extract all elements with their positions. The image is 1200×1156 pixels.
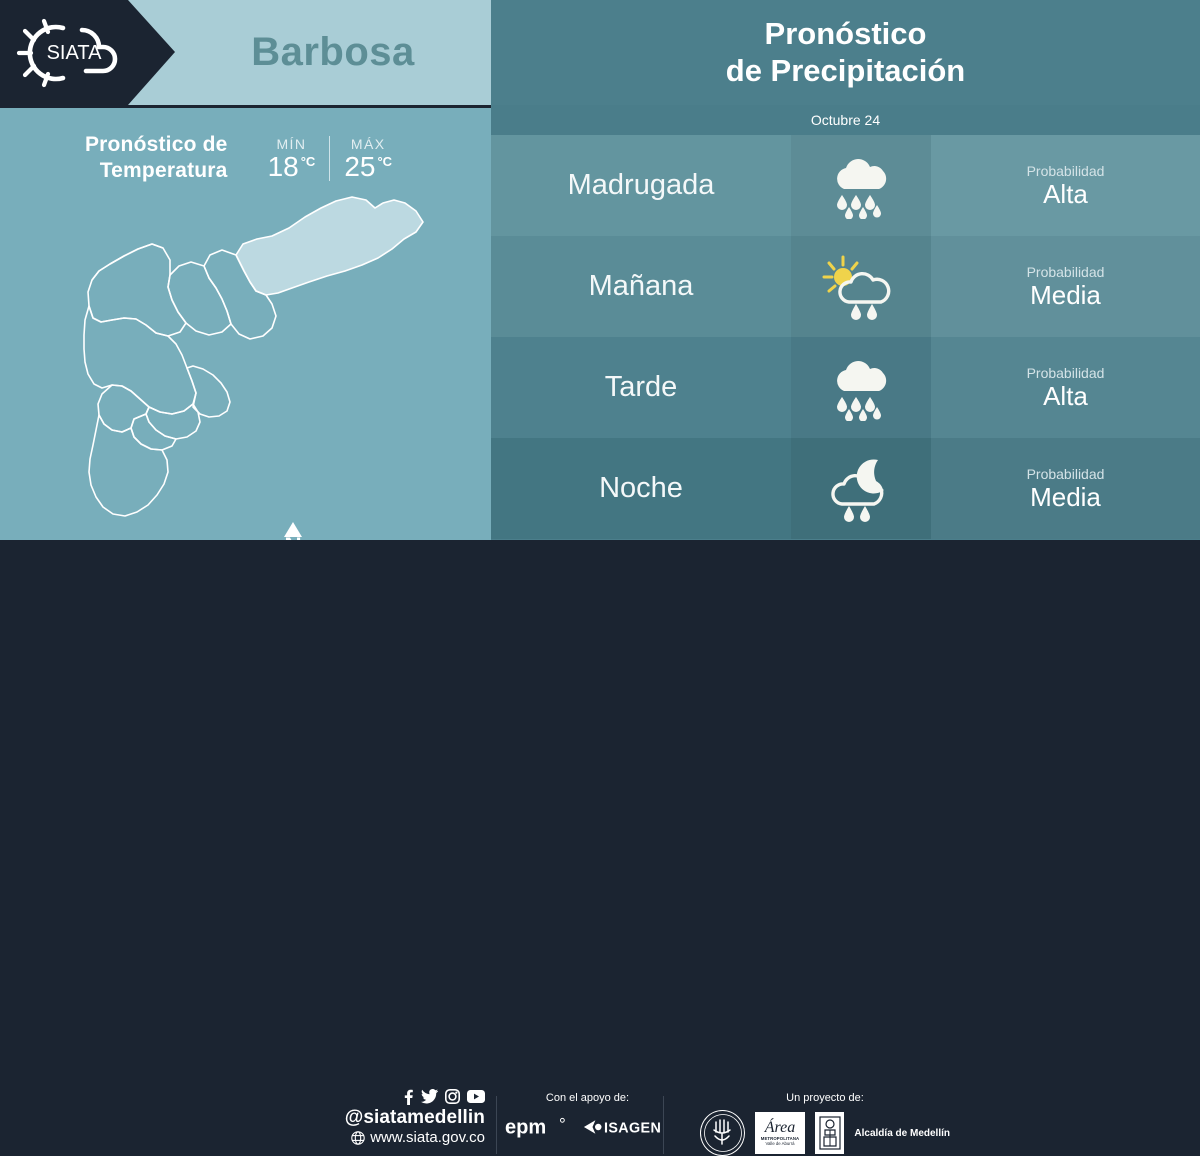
temperature-block: Pronóstico de Temperatura MÍN 18 °C MÁX bbox=[0, 122, 491, 194]
temperature-title-line2: Temperatura bbox=[85, 158, 228, 184]
period-label: Tarde bbox=[491, 337, 791, 438]
area-line2: Valle de Aburrá bbox=[765, 1141, 794, 1146]
universidad-medellin-seal bbox=[700, 1110, 745, 1156]
forecast-row: Noche Probabilidad Media bbox=[491, 438, 1200, 539]
probability-label: Probabilidad bbox=[1027, 163, 1105, 179]
twitter-icon[interactable] bbox=[421, 1089, 438, 1104]
weather-icon-cell bbox=[791, 236, 931, 337]
social-icons bbox=[310, 1088, 485, 1105]
probability-value: Media bbox=[1030, 281, 1101, 310]
website-url: www.siata.gov.co bbox=[370, 1129, 485, 1147]
forecast-rows: Madrugada bbox=[491, 135, 1200, 540]
epm-logo: epm bbox=[505, 1114, 570, 1140]
probability-value: Alta bbox=[1043, 180, 1088, 209]
temperature-values: MÍN 18 °C MÁX 25 °C bbox=[254, 136, 407, 181]
alcaldia-seal bbox=[815, 1112, 844, 1154]
forecast-date: Octubre 24 bbox=[491, 105, 1200, 135]
probability-value: Media bbox=[1030, 483, 1101, 512]
temperature-map-panel: Pronóstico de Temperatura MÍN 18 °C MÁX bbox=[0, 108, 491, 540]
probability-cell: Probabilidad Alta bbox=[931, 337, 1200, 438]
alcaldia-emblem bbox=[819, 1116, 841, 1150]
support-logos: epm ISAGEN bbox=[505, 1114, 670, 1140]
period-label: Madrugada bbox=[491, 135, 791, 236]
region-map: N bbox=[0, 192, 491, 540]
website-row[interactable]: www.siata.gov.co bbox=[310, 1129, 485, 1147]
area-metropolitana-logo: Área METROPOLITANA Valle de Aburrá bbox=[755, 1112, 806, 1154]
forecast-row: Tarde Prob bbox=[491, 337, 1200, 438]
moon-cloud-rain-icon bbox=[822, 454, 900, 524]
forecast-row: Mañana bbox=[491, 236, 1200, 337]
aburra-valley-map bbox=[0, 192, 491, 540]
rain-cloud-icon bbox=[822, 355, 900, 421]
project-label: Un proyecto de: bbox=[700, 1092, 950, 1104]
weather-icon-cell bbox=[791, 135, 931, 236]
footer-divider bbox=[663, 1096, 664, 1154]
map-region-barbosa bbox=[236, 197, 423, 295]
support-block: Con el apoyo de: epm ISAGEN bbox=[505, 1092, 670, 1140]
temperature-max-value-wrap: 25 °C bbox=[344, 153, 392, 181]
footer: @siatamedellin www.siata.gov.co Con el a… bbox=[0, 540, 1200, 630]
temperature-max: MÁX 25 °C bbox=[330, 136, 406, 181]
brand-logo-text: SIATA bbox=[47, 42, 102, 64]
brand-header: SIATA Barbosa bbox=[0, 0, 491, 105]
temperature-max-value: 25 bbox=[344, 153, 375, 181]
weather-infographic: SIATA Barbosa Pronóstico de Temperatura … bbox=[0, 0, 1200, 630]
project-block: Un proyecto de: bbox=[700, 1092, 950, 1156]
alcaldia-label: Alcaldía de Medellín bbox=[854, 1128, 950, 1139]
temperature-max-label: MÁX bbox=[351, 136, 386, 152]
facebook-icon[interactable] bbox=[403, 1089, 414, 1105]
weather-icon-cell bbox=[791, 438, 931, 539]
project-logos: Área METROPOLITANA Valle de Aburrá Alcal… bbox=[700, 1110, 950, 1156]
probability-value: Alta bbox=[1043, 382, 1088, 411]
forecast-header: Pronóstico de Precipitación bbox=[491, 0, 1200, 105]
forecast-row: Madrugada bbox=[491, 135, 1200, 236]
temperature-min-label: MÍN bbox=[277, 136, 307, 152]
temperature-title: Pronóstico de Temperatura bbox=[85, 132, 228, 183]
weather-icon-cell bbox=[791, 337, 931, 438]
map-region-itagui bbox=[146, 404, 200, 439]
forecast-title-line2: de Precipitación bbox=[726, 53, 965, 89]
svg-text:ISAGEN: ISAGEN bbox=[604, 1121, 661, 1137]
svg-text:epm: epm bbox=[505, 1117, 546, 1139]
precipitation-panel: Pronóstico de Precipitación Octubre 24 M… bbox=[491, 0, 1200, 540]
temperature-max-unit: °C bbox=[377, 155, 392, 168]
social-block: @siatamedellin www.siata.gov.co bbox=[310, 1088, 485, 1147]
probability-label: Probabilidad bbox=[1027, 264, 1105, 280]
rain-cloud-icon bbox=[822, 153, 900, 219]
probability-label: Probabilidad bbox=[1027, 365, 1105, 381]
city-name: Barbosa bbox=[175, 0, 491, 105]
temperature-min-value-wrap: 18 °C bbox=[268, 153, 316, 181]
sun-cloud-icon: SIATA bbox=[16, 14, 134, 92]
support-label: Con el apoyo de: bbox=[505, 1092, 670, 1104]
temperature-min-value: 18 bbox=[268, 153, 299, 181]
forecast-title-line1: Pronóstico bbox=[765, 16, 927, 52]
youtube-icon[interactable] bbox=[467, 1090, 485, 1103]
temperature-min-unit: °C bbox=[301, 155, 316, 168]
area-signature: Área bbox=[765, 1120, 796, 1136]
temperature-title-line1: Pronóstico de bbox=[85, 132, 228, 158]
globe-icon bbox=[351, 1131, 365, 1145]
sun-cloud-rain-icon bbox=[821, 254, 901, 320]
isagen-logo: ISAGEN bbox=[582, 1116, 670, 1138]
udem-seal-ring bbox=[701, 1111, 745, 1155]
map-region-copacabana bbox=[168, 262, 231, 335]
footer-divider bbox=[496, 1096, 497, 1154]
left-panel: SIATA Barbosa Pronóstico de Temperatura … bbox=[0, 0, 491, 540]
period-label: Noche bbox=[491, 438, 791, 539]
probability-label: Probabilidad bbox=[1027, 466, 1105, 482]
instagram-icon[interactable] bbox=[445, 1089, 460, 1104]
probability-cell: Probabilidad Media bbox=[931, 236, 1200, 337]
probability-cell: Probabilidad Alta bbox=[931, 135, 1200, 236]
map-region-envigado bbox=[187, 366, 230, 417]
map-region-border-north bbox=[92, 244, 163, 280]
temperature-min: MÍN 18 °C bbox=[254, 136, 331, 181]
probability-cell: Probabilidad Media bbox=[931, 438, 1200, 539]
map-region-sabaneta bbox=[131, 414, 176, 450]
social-handle[interactable]: @siatamedellin bbox=[310, 1107, 485, 1129]
period-label: Mañana bbox=[491, 236, 791, 337]
